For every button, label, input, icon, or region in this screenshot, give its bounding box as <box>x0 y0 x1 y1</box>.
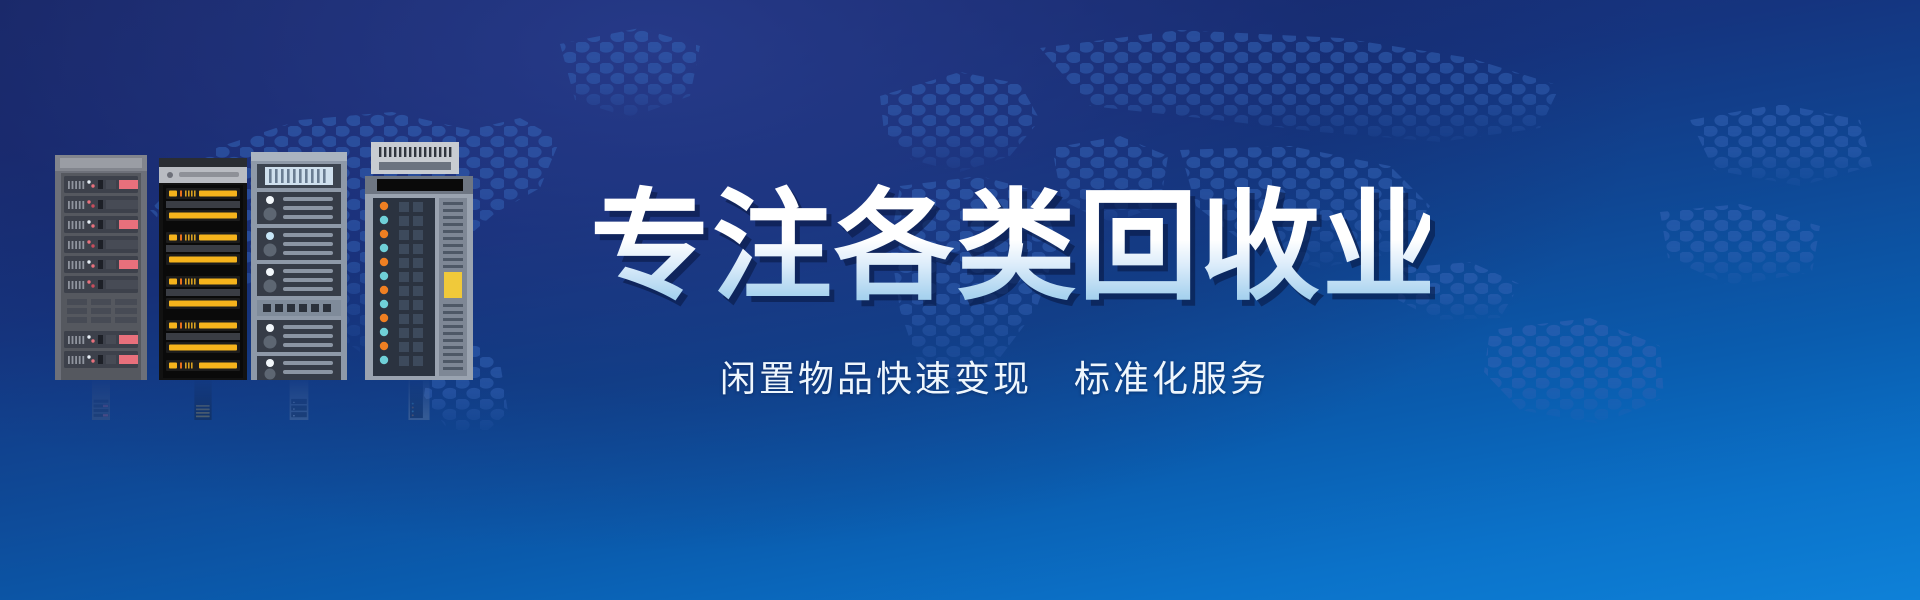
server-rack-black-gold <box>159 158 247 380</box>
server-rack-reflections <box>55 376 495 424</box>
server-rack-illustration-group <box>55 140 495 380</box>
banner-headline: 专注各类回收业务 <box>590 178 1430 318</box>
promo-banner: 专注各类回收业务 闲置物品快速变现 标准化服务 <box>0 0 1920 600</box>
banner-subtitle: 闲置物品快速变现 标准化服务 <box>590 358 1450 401</box>
subtitle-item-2: 标准化服务 <box>1074 358 1269 401</box>
subtitle-item-1: 闲置物品快速变现 <box>720 358 1032 401</box>
server-rack-tower <box>365 142 473 380</box>
server-rack-gray <box>55 155 147 380</box>
server-rack-silver <box>251 152 347 380</box>
